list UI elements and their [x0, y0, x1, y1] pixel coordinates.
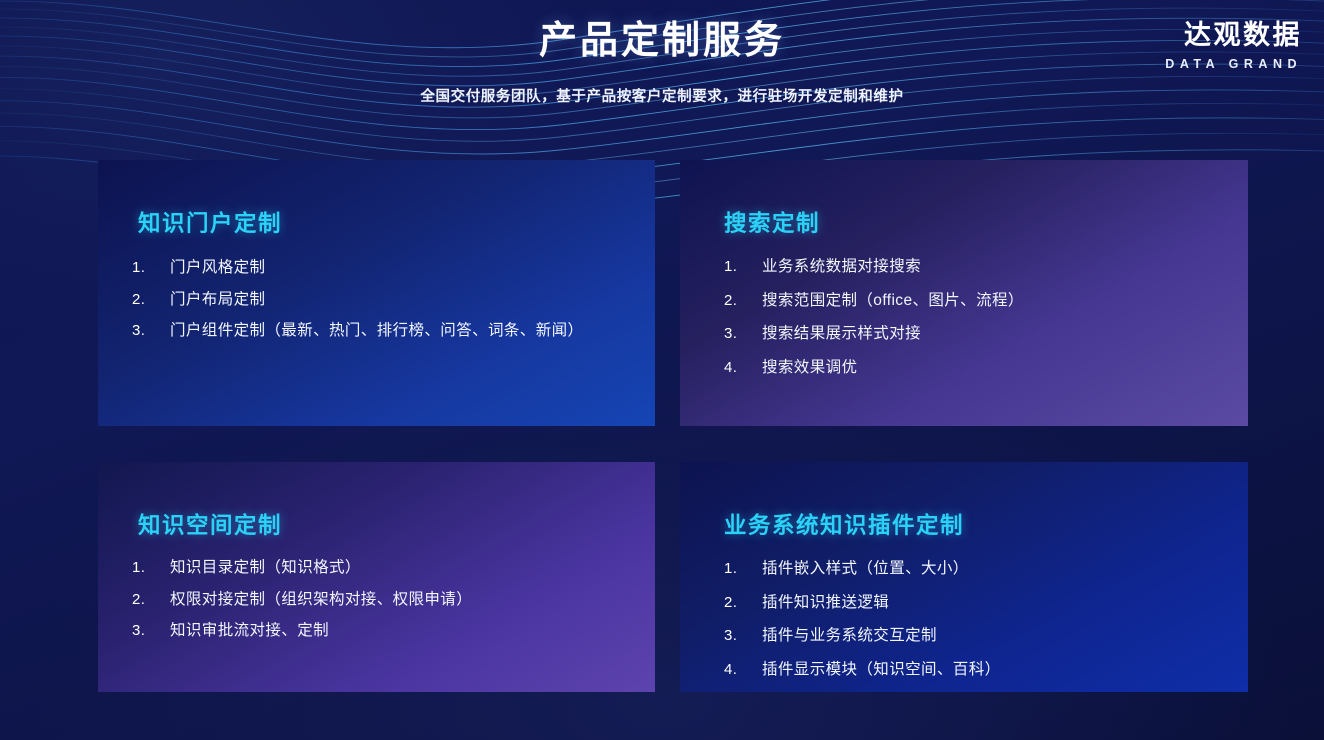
- list-item-label: 权限对接定制（组织架构对接、权限申请）: [170, 592, 629, 608]
- list-item-label: 搜索范围定制（office、图片、流程）: [762, 293, 1222, 309]
- list-item-label: 门户布局定制: [170, 292, 629, 308]
- list-item: 4. 搜索效果调优: [714, 351, 1222, 385]
- logo-english-name: DATA GRAND: [1165, 58, 1302, 71]
- brand-logo: 达观数据 DATA GRAND: [1165, 22, 1302, 71]
- logo-chinese-name: 达观数据: [1165, 22, 1302, 49]
- list-item-label: 门户组件定制（最新、热门、排行榜、问答、词条、新闻）: [170, 323, 629, 339]
- card-title: 搜索定制: [724, 206, 1222, 238]
- list-item: 4. 插件显示模块（知识空间、百科）: [714, 653, 1222, 687]
- list-item-label: 搜索效果调优: [762, 360, 1222, 376]
- card-knowledge-space: 知识空间定制 1. 知识目录定制（知识格式） 2. 权限对接定制（组织架构对接、…: [98, 462, 655, 692]
- list-item-label: 插件显示模块（知识空间、百科）: [762, 662, 1222, 678]
- list-item-number: 3.: [724, 326, 762, 341]
- list-item-number: 3.: [132, 323, 170, 338]
- card-item-list: 1. 知识目录定制（知识格式） 2. 权限对接定制（组织架构对接、权限申请） 3…: [132, 552, 629, 647]
- card-item-list: 1. 门户风格定制 2. 门户布局定制 3. 门户组件定制（最新、热门、排行榜、…: [132, 252, 629, 347]
- list-item-number: 1.: [724, 561, 762, 576]
- card-business-system-plugin: 业务系统知识插件定制 1. 插件嵌入样式（位置、大小） 2. 插件知识推送逻辑 …: [680, 462, 1248, 692]
- list-item: 1. 插件嵌入样式（位置、大小）: [714, 552, 1222, 586]
- list-item: 2. 插件知识推送逻辑: [714, 586, 1222, 620]
- list-item-label: 插件与业务系统交互定制: [762, 628, 1222, 644]
- list-item-number: 1.: [132, 560, 170, 575]
- card-title: 知识空间定制: [138, 508, 629, 540]
- list-item-label: 搜索结果展示样式对接: [762, 326, 1222, 342]
- card-item-list: 1. 业务系统数据对接搜索 2. 搜索范围定制（office、图片、流程） 3.…: [714, 250, 1222, 384]
- slide-root: 产品定制服务 全国交付服务团队，基于产品按客户定制要求，进行驻场开发定制和维护 …: [0, 0, 1324, 740]
- feature-card-grid: 知识门户定制 1. 门户风格定制 2. 门户布局定制 3. 门户组件定制（最新、…: [98, 160, 1248, 692]
- list-item-number: 4.: [724, 662, 762, 677]
- card-title: 知识门户定制: [138, 206, 629, 238]
- list-item-label: 插件知识推送逻辑: [762, 595, 1222, 611]
- list-item-label: 门户风格定制: [170, 260, 629, 276]
- page-subtitle: 全国交付服务团队，基于产品按客户定制要求，进行驻场开发定制和维护: [0, 85, 1324, 106]
- list-item: 2. 搜索范围定制（office、图片、流程）: [714, 284, 1222, 318]
- list-item: 3. 插件与业务系统交互定制: [714, 619, 1222, 653]
- list-item-label: 插件嵌入样式（位置、大小）: [762, 561, 1222, 577]
- list-item-number: 2.: [132, 592, 170, 607]
- card-title: 业务系统知识插件定制: [724, 508, 1222, 540]
- list-item: 3. 知识审批流对接、定制: [132, 615, 629, 647]
- list-item: 3. 搜索结果展示样式对接: [714, 317, 1222, 351]
- list-item-number: 1.: [724, 259, 762, 274]
- slide-header: 产品定制服务 全国交付服务团队，基于产品按客户定制要求，进行驻场开发定制和维护 …: [0, 0, 1324, 130]
- list-item-label: 知识目录定制（知识格式）: [170, 560, 629, 576]
- card-knowledge-portal: 知识门户定制 1. 门户风格定制 2. 门户布局定制 3. 门户组件定制（最新、…: [98, 160, 655, 426]
- title-block: 产品定制服务 全国交付服务团队，基于产品按客户定制要求，进行驻场开发定制和维护: [0, 18, 1324, 106]
- list-item-number: 1.: [132, 260, 170, 275]
- list-item: 1. 业务系统数据对接搜索: [714, 250, 1222, 284]
- list-item-number: 3.: [132, 623, 170, 638]
- list-item-number: 2.: [132, 292, 170, 307]
- list-item: 1. 知识目录定制（知识格式）: [132, 552, 629, 584]
- list-item-number: 3.: [724, 628, 762, 643]
- card-item-list: 1. 插件嵌入样式（位置、大小） 2. 插件知识推送逻辑 3. 插件与业务系统交…: [714, 552, 1222, 686]
- list-item: 2. 门户布局定制: [132, 284, 629, 316]
- list-item-number: 4.: [724, 360, 762, 375]
- card-search-customization: 搜索定制 1. 业务系统数据对接搜索 2. 搜索范围定制（office、图片、流…: [680, 160, 1248, 426]
- list-item-label: 业务系统数据对接搜索: [762, 259, 1222, 275]
- list-item: 3. 门户组件定制（最新、热门、排行榜、问答、词条、新闻）: [132, 315, 629, 347]
- list-item-number: 2.: [724, 293, 762, 308]
- list-item: 1. 门户风格定制: [132, 252, 629, 284]
- list-item-number: 2.: [724, 595, 762, 610]
- list-item: 2. 权限对接定制（组织架构对接、权限申请）: [132, 584, 629, 616]
- page-title: 产品定制服务: [0, 18, 1324, 66]
- list-item-label: 知识审批流对接、定制: [170, 623, 629, 639]
